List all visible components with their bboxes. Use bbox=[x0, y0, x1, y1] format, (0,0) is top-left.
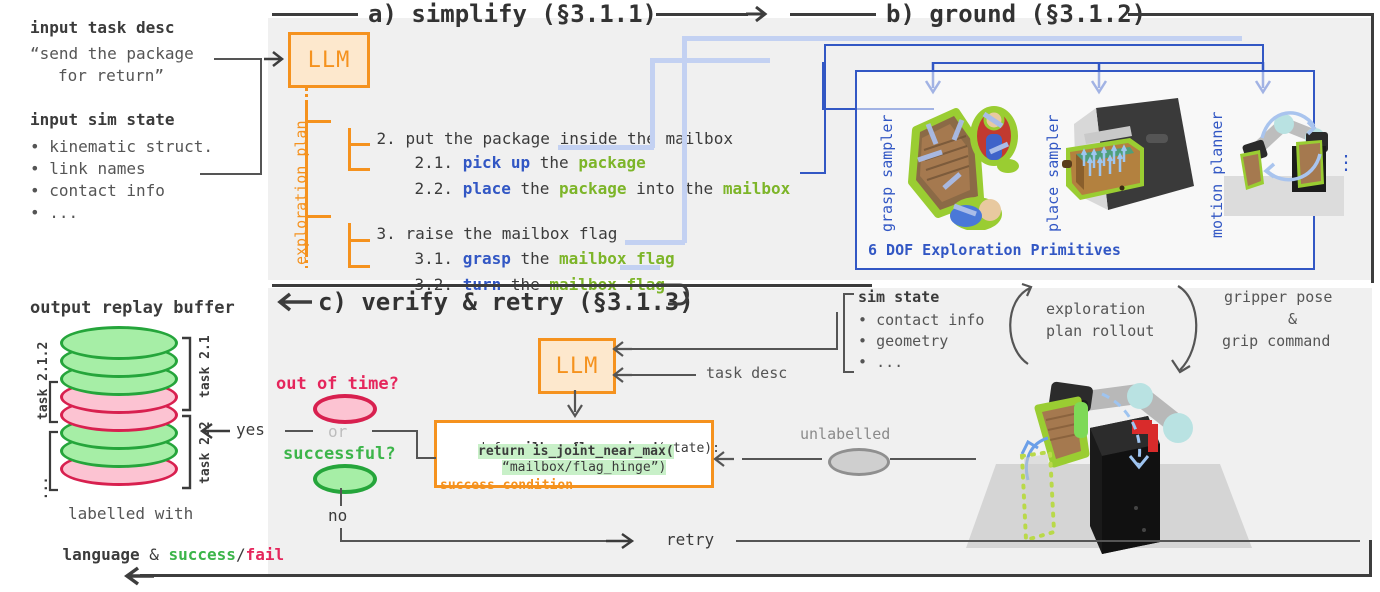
rule-b-right-down bbox=[1371, 13, 1374, 283]
buffer-caption-line1: labelled with bbox=[68, 504, 193, 523]
rollout-label-line1: exploration bbox=[1046, 300, 1145, 318]
out-of-time-node bbox=[313, 394, 377, 424]
llm-box-simplify: LLM bbox=[288, 32, 370, 88]
plan-subitem-verb: place bbox=[463, 179, 511, 198]
list-item: • contact info bbox=[30, 180, 213, 202]
arrow-unlabelled-to-code-icon bbox=[712, 448, 736, 470]
route-grasp-v bbox=[822, 62, 824, 110]
input-sim-state-heading: input sim state bbox=[30, 110, 175, 129]
caption-language: language bbox=[63, 545, 140, 564]
bullet-icon: • bbox=[858, 332, 867, 350]
plan-tick-2-2 bbox=[348, 168, 370, 171]
list-item: • ... bbox=[30, 202, 213, 224]
plan-subitem-mid: the bbox=[511, 179, 559, 198]
arrow-taskdesc-line bbox=[628, 374, 696, 376]
list-item: • link names bbox=[30, 158, 213, 180]
route-faded-3-1-top-h bbox=[682, 36, 1242, 41]
list-item-label: geometry bbox=[876, 332, 948, 350]
out-of-time-label: out of time? bbox=[276, 374, 399, 394]
plan-subitem-number: 2.2. bbox=[415, 179, 454, 198]
plan-tick-2 bbox=[305, 120, 331, 123]
buffer-right-label-bottom: task 2.2 bbox=[198, 421, 213, 484]
buffer-caption-line2: language & success/fail bbox=[24, 526, 284, 583]
or-label: or bbox=[328, 422, 347, 441]
route-faded-top-h bbox=[650, 58, 770, 63]
arrow-taskdesc-head-icon bbox=[612, 364, 634, 386]
list-item: • geometry bbox=[858, 331, 984, 352]
rollout-label-line2: plan rollout bbox=[1046, 322, 1154, 340]
replay-buffer-stack bbox=[60, 330, 178, 490]
bullet-icon: • bbox=[30, 203, 40, 222]
rollout-arc-right-icon bbox=[1168, 282, 1210, 378]
figure-root: a) simplify (§3.1.1) b) ground (§3.1.2) … bbox=[0, 0, 1380, 592]
or-to-code-h bbox=[372, 430, 418, 432]
plan-tick-3-2 bbox=[348, 265, 370, 268]
verify-simstate-bullets: • contact info • geometry • ... bbox=[858, 310, 984, 373]
arrow-a-to-b-icon bbox=[744, 4, 770, 24]
buffer-disc bbox=[60, 326, 178, 360]
task-desc-label: task desc bbox=[706, 364, 787, 382]
plan-spine-dots-top bbox=[305, 88, 308, 102]
replay-buffer-heading: output replay buffer bbox=[30, 298, 235, 318]
bottom-bus-line bbox=[140, 574, 1372, 577]
buffer-right-bracket-bottom-icon bbox=[180, 414, 194, 490]
list-item-label: ... bbox=[876, 353, 903, 371]
place-sampler-image bbox=[1060, 90, 1200, 230]
rule-c-top bbox=[272, 284, 872, 287]
buffer-right-bracket-top-icon bbox=[180, 336, 194, 412]
motion-planner-image bbox=[1222, 92, 1348, 222]
rule-b-right bbox=[1128, 13, 1374, 16]
section-c-title: c) verify & retry (§3.1.3) bbox=[318, 288, 694, 316]
unlabelled-label: unlabelled bbox=[800, 425, 890, 443]
route-2-2-top-h bbox=[824, 44, 1264, 46]
code-line-2: return is_joint_near_max( bbox=[478, 444, 674, 459]
caption-fail: fail bbox=[246, 545, 285, 564]
bullet-icon: • bbox=[30, 181, 40, 200]
yes-label: yes bbox=[236, 420, 265, 439]
verify-simstate-heading: sim state bbox=[858, 288, 939, 306]
bullet-icon: • bbox=[858, 353, 867, 371]
successful-label: successful? bbox=[283, 444, 396, 464]
successful-node bbox=[313, 464, 377, 494]
list-item-label: kinematic struct. bbox=[49, 137, 213, 156]
buffer-left-bracket-top-icon bbox=[46, 380, 60, 424]
buffer-right-label-top: task 2.1 bbox=[198, 335, 213, 398]
robot-rollout-image bbox=[962, 372, 1262, 564]
gripper-label-line1: gripper pose bbox=[1224, 288, 1332, 306]
rollout-arc-left-icon bbox=[1000, 282, 1040, 368]
rule-a-right bbox=[656, 13, 748, 16]
arrow-simstate-to-llm-v bbox=[836, 312, 838, 350]
arrow-llm-to-code-icon bbox=[564, 390, 586, 420]
input-task-desc-heading: input task desc bbox=[30, 18, 175, 37]
primitives-ellipsis: ⋮ bbox=[1336, 150, 1356, 174]
buffer-left-bracket-bottom-icon bbox=[46, 430, 60, 492]
retry-label: retry bbox=[666, 530, 714, 549]
input-task-desc-line1: “send the package bbox=[30, 44, 194, 63]
rule-b-left bbox=[790, 13, 876, 16]
caption-amp: & bbox=[140, 545, 169, 564]
plan-subitem-tail: into the bbox=[626, 179, 722, 198]
arrow-retry-icon bbox=[606, 530, 636, 552]
unlabelled-line-left bbox=[742, 458, 822, 460]
unlabelled-node bbox=[828, 448, 890, 476]
list-item: • contact info bbox=[858, 310, 984, 331]
route-faded-2-1-h bbox=[558, 145, 654, 150]
bottom-bus-right-v bbox=[1369, 540, 1372, 576]
route-2-2-h bbox=[800, 172, 826, 174]
list-item-label: ... bbox=[49, 203, 78, 222]
plan-branch-3 bbox=[348, 223, 351, 267]
retry-line-left bbox=[340, 540, 624, 542]
section-a-title: a) simplify (§3.1.1) bbox=[368, 0, 657, 28]
input-sim-state-bullets: • kinematic struct. • link names • conta… bbox=[30, 136, 213, 224]
plan-spine-dots-bottom bbox=[305, 254, 308, 268]
section-b-title: b) ground (§3.1.2) bbox=[886, 0, 1146, 28]
gripper-label-line2: & bbox=[1288, 310, 1297, 328]
plan-tick-3-1 bbox=[348, 239, 370, 242]
arrow-c-left-icon bbox=[274, 290, 314, 314]
bullet-icon: • bbox=[858, 311, 867, 329]
caption-slash: / bbox=[236, 545, 246, 564]
plan-subitem-object: package bbox=[559, 179, 626, 198]
gripper-label-line3: grip command bbox=[1222, 332, 1330, 350]
list-item: • ... bbox=[858, 352, 984, 373]
plan-spine bbox=[305, 102, 308, 254]
arrow-simstate-to-llm-line bbox=[626, 348, 838, 350]
route-faded-3-2-h bbox=[620, 265, 660, 270]
route-bus-end bbox=[1262, 44, 1264, 64]
list-item: • kinematic struct. bbox=[30, 136, 213, 158]
bullet-icon: • bbox=[30, 159, 40, 178]
retry-line-right bbox=[736, 540, 1360, 542]
arrow-inputs-to-llm-icon bbox=[262, 48, 288, 70]
caption-success: success bbox=[169, 545, 236, 564]
no-line-v bbox=[340, 488, 342, 506]
code-line-3: “mailbox/flag_hinge”) bbox=[502, 460, 666, 475]
llm-box-verify: LLM bbox=[538, 338, 616, 394]
verify-simstate-bracket bbox=[840, 292, 856, 378]
success-condition-caption: success condition bbox=[440, 478, 573, 493]
connector-inputs-v bbox=[260, 58, 262, 175]
list-item-label: contact info bbox=[876, 311, 984, 329]
list-item-label: contact info bbox=[49, 181, 165, 200]
arrow-simstate-to-llm-head-icon bbox=[612, 338, 634, 360]
route-faded-2-1-v bbox=[650, 58, 655, 148]
route-faded-3-1-h bbox=[625, 240, 685, 245]
connector-simstate-h bbox=[200, 173, 262, 175]
plan-tick-3 bbox=[305, 215, 331, 218]
rule-a-left bbox=[272, 13, 358, 16]
list-item-label: link names bbox=[49, 159, 145, 178]
plan-subitem-object2: mailbox bbox=[723, 179, 790, 198]
yes-line-left bbox=[285, 430, 313, 432]
no-label: no bbox=[328, 506, 347, 525]
or-to-code-h2 bbox=[416, 457, 436, 459]
or-to-code-v bbox=[416, 430, 418, 458]
grasp-sampler-label: grasp sampler bbox=[878, 115, 896, 232]
plan-branch-2 bbox=[348, 128, 351, 170]
plan-tick-2-1 bbox=[348, 143, 370, 146]
connector-taskdesc-h bbox=[214, 58, 262, 60]
primitives-box-label: 6 DOF Exploration Primitives bbox=[868, 241, 1121, 259]
grasp-sampler-image bbox=[898, 90, 1028, 230]
route-faded-3-1-v bbox=[682, 40, 687, 243]
rule-c-hook-icon bbox=[656, 282, 696, 314]
input-task-desc-line2: for return” bbox=[58, 66, 164, 85]
bullet-icon: • bbox=[30, 137, 40, 156]
bracket-icon bbox=[840, 292, 856, 374]
